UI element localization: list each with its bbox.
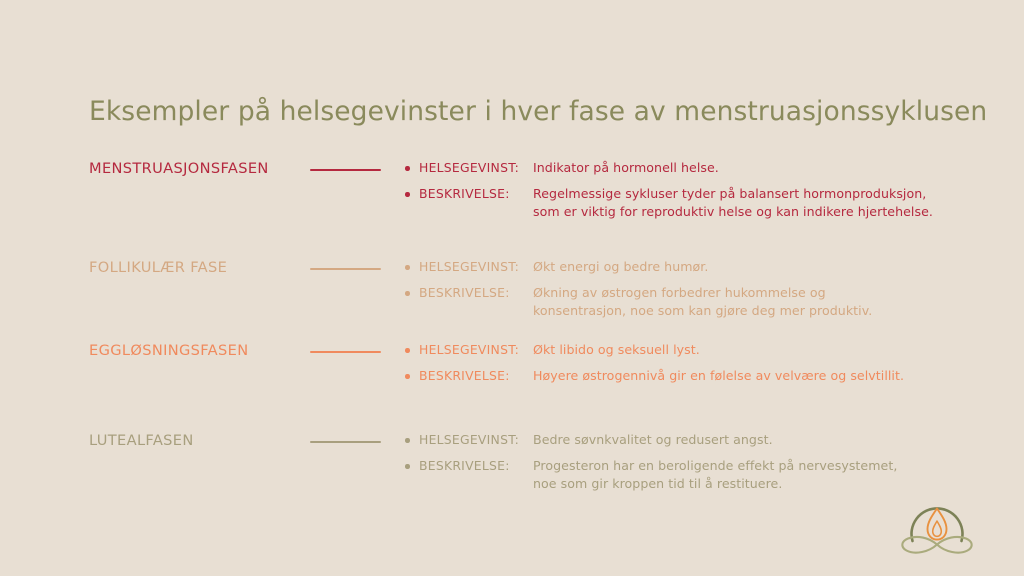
description-value: Økning av østrogen forbedrer hukommelse … [533,284,989,319]
benefit-label: HELSEGEVINST: [419,258,533,276]
connector-line [310,441,381,443]
detail-description: BESKRIVELSE: Høyere østrogennivå gir en … [405,367,989,385]
description-label: BESKRIVELSE: [419,457,533,475]
bullet-icon [405,258,419,276]
detail-description: BESKRIVELSE: Regelmessige sykluser tyder… [405,185,989,220]
phase-details: HELSEGEVINST: Økt libido og seksuell lys… [394,341,989,385]
phase-name-menstruasjonsfasen: MENSTRUASJONSFASEN [89,159,304,179]
phase-list: MENSTRUASJONSFASEN HELSEGEVINST: Indikat… [0,0,1024,576]
description-label: BESKRIVELSE: [419,284,533,302]
connector-wrap [304,341,394,361]
lotus-flame-logo [893,492,981,564]
description-label: BESKRIVELSE: [419,367,533,385]
detail-benefit: HELSEGEVINST: Bedre søvnkvalitet og redu… [405,431,989,449]
bullet-icon [405,431,419,449]
phase-row: LUTEALFASEN HELSEGEVINST: Bedre søvnkval… [89,431,989,492]
connector-wrap [304,431,394,451]
description-value: Høyere østrogennivå gir en følelse av ve… [533,367,989,385]
connector-line [310,268,381,270]
phase-row: MENSTRUASJONSFASEN HELSEGEVINST: Indikat… [89,159,989,220]
phase-row: FOLLIKULÆR FASE HELSEGEVINST: Økt energi… [89,258,989,319]
detail-benefit: HELSEGEVINST: Økt libido og seksuell lys… [405,341,989,359]
bullet-icon [405,367,419,385]
benefit-value: Økt energi og bedre humør. [533,258,989,276]
description-value: Progesteron har en beroligende effekt på… [533,457,989,492]
phase-details: HELSEGEVINST: Økt energi og bedre humør.… [394,258,989,319]
connector-wrap [304,258,394,278]
bullet-icon [405,341,419,359]
phase-details: HELSEGEVINST: Indikator på hormonell hel… [394,159,989,220]
description-label: BESKRIVELSE: [419,185,533,203]
bullet-icon [405,185,419,203]
phase-details: HELSEGEVINST: Bedre søvnkvalitet og redu… [394,431,989,492]
phase-name-lutealfasen: LUTEALFASEN [89,431,304,451]
phase-row: EGGLØSNINGSFASEN HELSEGEVINST: Økt libid… [89,341,989,385]
benefit-value: Bedre søvnkvalitet og redusert angst. [533,431,989,449]
slide-canvas: Eksempler på helsegevinster i hver fase … [0,0,1024,576]
bullet-icon [405,457,419,475]
phase-name-follikulaer-fase: FOLLIKULÆR FASE [89,258,304,278]
detail-benefit: HELSEGEVINST: Økt energi og bedre humør. [405,258,989,276]
connector-wrap [304,159,394,179]
benefit-value: Indikator på hormonell helse. [533,159,989,177]
connector-line [310,351,381,353]
description-value: Regelmessige sykluser tyder på balansert… [533,185,989,220]
benefit-value: Økt libido og seksuell lyst. [533,341,989,359]
bullet-icon [405,284,419,302]
phase-name-egglosningsfasen: EGGLØSNINGSFASEN [89,341,304,361]
benefit-label: HELSEGEVINST: [419,431,533,449]
detail-description: BESKRIVELSE: Økning av østrogen forbedre… [405,284,989,319]
benefit-label: HELSEGEVINST: [419,341,533,359]
benefit-label: HELSEGEVINST: [419,159,533,177]
detail-description: BESKRIVELSE: Progesteron har en berolige… [405,457,989,492]
detail-benefit: HELSEGEVINST: Indikator på hormonell hel… [405,159,989,177]
bullet-icon [405,159,419,177]
connector-line [310,169,381,171]
